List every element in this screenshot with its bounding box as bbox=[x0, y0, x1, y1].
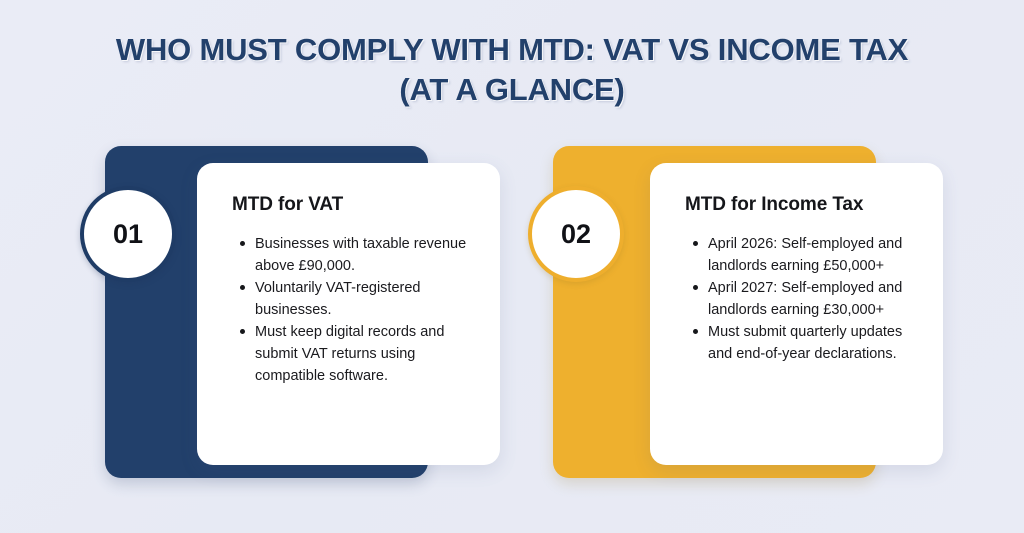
list-item: Businesses with taxable revenue above £9… bbox=[255, 233, 482, 277]
list-item: April 2027: Self-employed and landlords … bbox=[708, 277, 925, 321]
step-number-badge: 02 bbox=[528, 186, 624, 282]
list-item-text: Must keep digital records and submit VAT… bbox=[255, 324, 444, 384]
bullet-dot-icon bbox=[693, 329, 698, 334]
card-heading: MTD for VAT bbox=[232, 193, 482, 217]
bullet-dot-icon bbox=[240, 241, 245, 246]
step-number-badge: 01 bbox=[80, 186, 176, 282]
bullet-dot-icon bbox=[240, 285, 245, 290]
list-item-text: Voluntarily VAT-registered businesses. bbox=[255, 280, 420, 318]
list-item-text: April 2027: Self-employed and landlords … bbox=[708, 280, 902, 318]
list-item-text: Businesses with taxable revenue above £9… bbox=[255, 236, 466, 274]
card-bullet-list: Businesses with taxable revenue above £9… bbox=[232, 233, 482, 387]
list-item: Must keep digital records and submit VAT… bbox=[255, 321, 482, 387]
step-number-label: 02 bbox=[561, 221, 591, 248]
list-item-text: April 2026: Self-employed and landlords … bbox=[708, 236, 902, 274]
bullet-dot-icon bbox=[240, 329, 245, 334]
bullet-dot-icon bbox=[693, 241, 698, 246]
card-heading: MTD for Income Tax bbox=[685, 193, 925, 217]
list-item: Must submit quarterly updates and end-of… bbox=[708, 321, 925, 365]
page-title: WHO MUST COMPLY WITH MTD: VAT VS INCOME … bbox=[0, 30, 1024, 110]
card-content-panel: MTD for Income Tax April 2026: Self-empl… bbox=[650, 163, 943, 465]
title-line-2: (AT A GLANCE) bbox=[0, 70, 1024, 110]
list-item: Voluntarily VAT-registered businesses. bbox=[255, 277, 482, 321]
list-item-text: Must submit quarterly updates and end-of… bbox=[708, 324, 902, 362]
list-item: April 2026: Self-employed and landlords … bbox=[708, 233, 925, 277]
infographic-canvas: WHO MUST COMPLY WITH MTD: VAT VS INCOME … bbox=[0, 0, 1024, 533]
title-line-1: WHO MUST COMPLY WITH MTD: VAT VS INCOME … bbox=[0, 30, 1024, 70]
card-bullet-list: April 2026: Self-employed and landlords … bbox=[685, 233, 925, 365]
card-content-panel: MTD for VAT Businesses with taxable reve… bbox=[197, 163, 500, 465]
bullet-dot-icon bbox=[693, 285, 698, 290]
step-number-label: 01 bbox=[113, 221, 143, 248]
